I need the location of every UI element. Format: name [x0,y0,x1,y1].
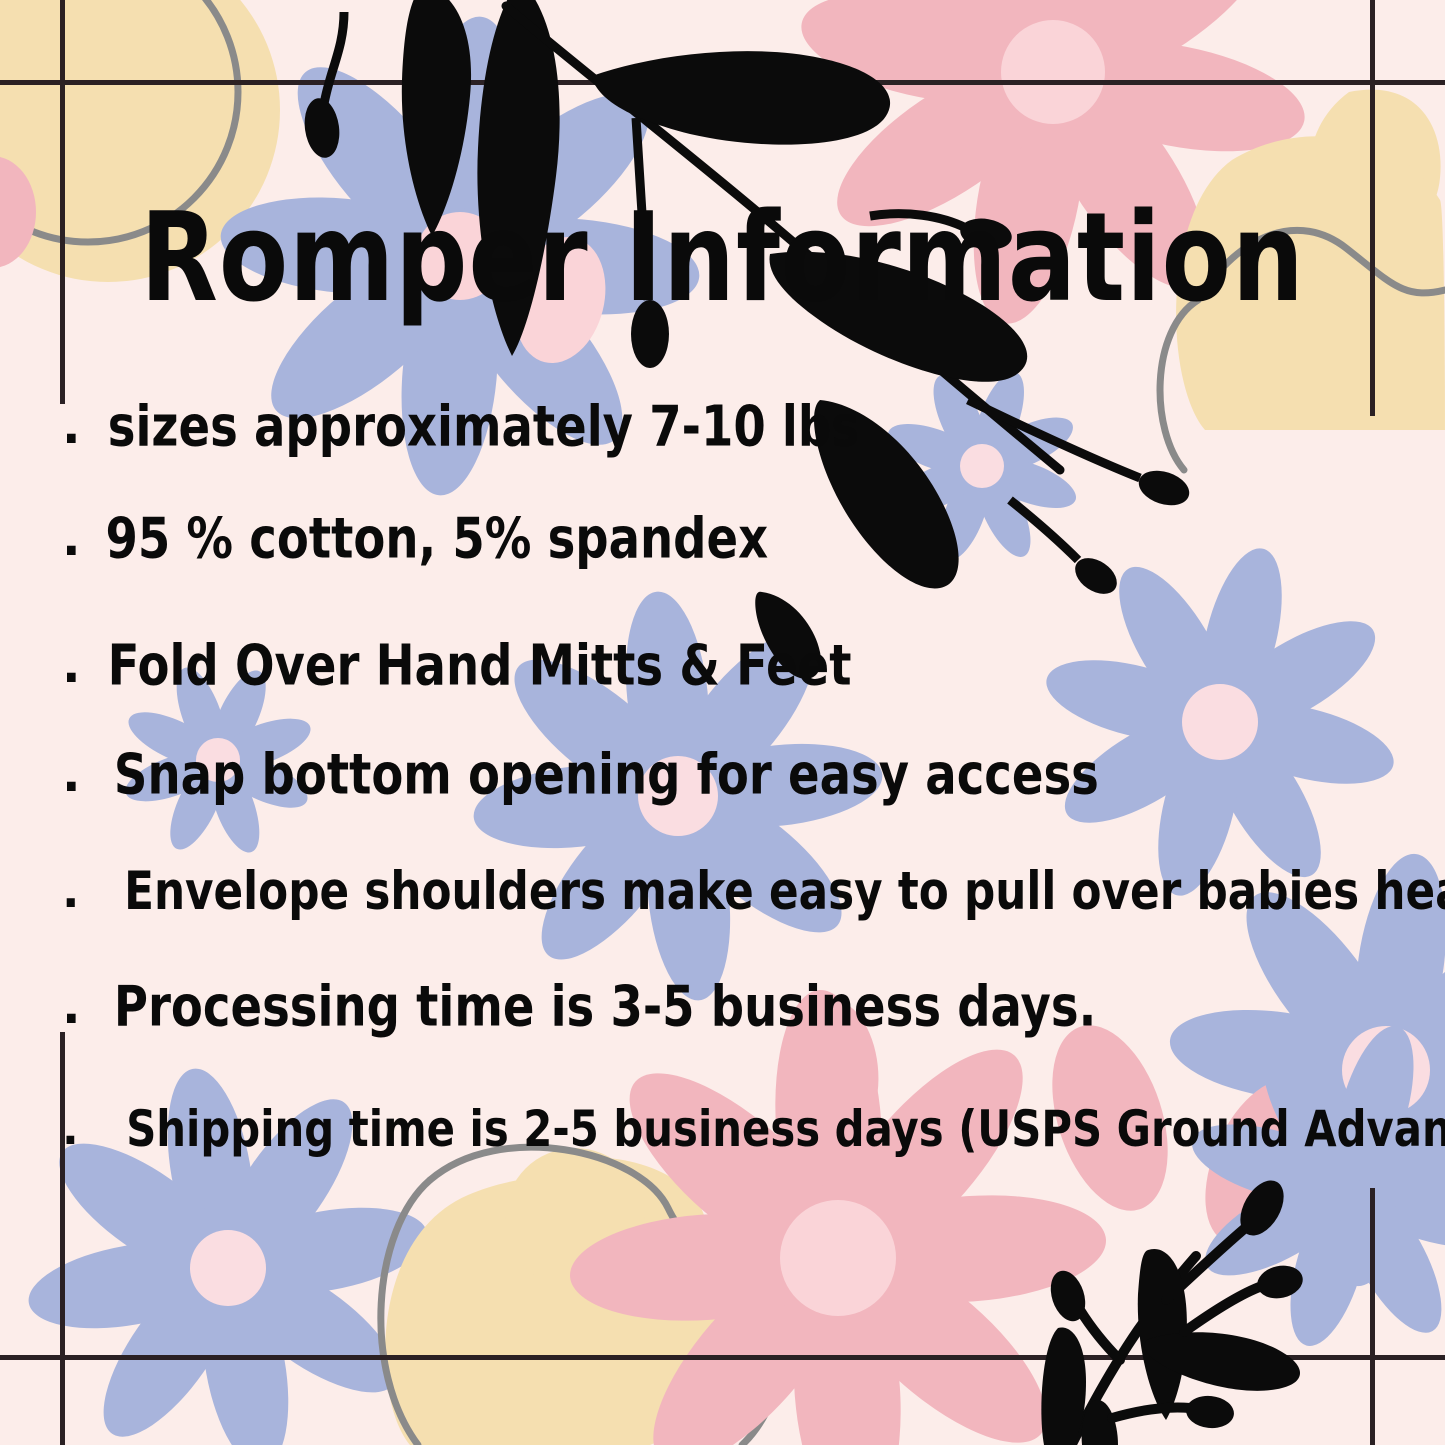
bullet-marker-icon: . [62,864,88,918]
poster-text-content: Romper Information . sizes approximately… [0,0,1445,1445]
list-item: . Processing time is 3-5 business days. [62,978,1122,1035]
list-item-label: Processing time is 3-5 business days. [114,974,1096,1039]
bullet-marker-icon: . [62,398,88,455]
bullet-marker-icon: . [62,510,88,567]
list-item: . Fold Over Hand Mitts & Feet [62,637,871,694]
list-item: . Snap bottom opening for easy access [62,746,1125,803]
bullet-marker-icon: . [62,1104,88,1155]
list-item-label: Snap bottom opening for easy access [114,742,1099,807]
romper-information-poster: Romper Information . sizes approximately… [0,0,1445,1445]
bullet-marker-icon: . [62,978,88,1035]
list-item: . 95 % cotton, 5% spandex [62,510,786,567]
list-item-label: sizes approximately 7-10 lbs [108,394,859,459]
list-item-label: Envelope shoulders make easy to pull ove… [124,860,1445,922]
list-item: . sizes approximately 7-10 lbs [62,398,879,455]
list-item-label: Shipping time is 2-5 business days (USPS… [126,1100,1445,1158]
list-item: . Shipping time is 2-5 business days (US… [62,1104,1445,1155]
page-title: Romper Information [22,196,1424,319]
list-item-label: Fold Over Hand Mitts & Feet [108,633,852,698]
list-item: . Envelope shoulders make easy to pull o… [62,864,1445,918]
bullet-marker-icon: . [62,637,88,694]
bullet-marker-icon: . [62,746,88,803]
list-item-label: 95 % cotton, 5% spandex [105,506,768,571]
